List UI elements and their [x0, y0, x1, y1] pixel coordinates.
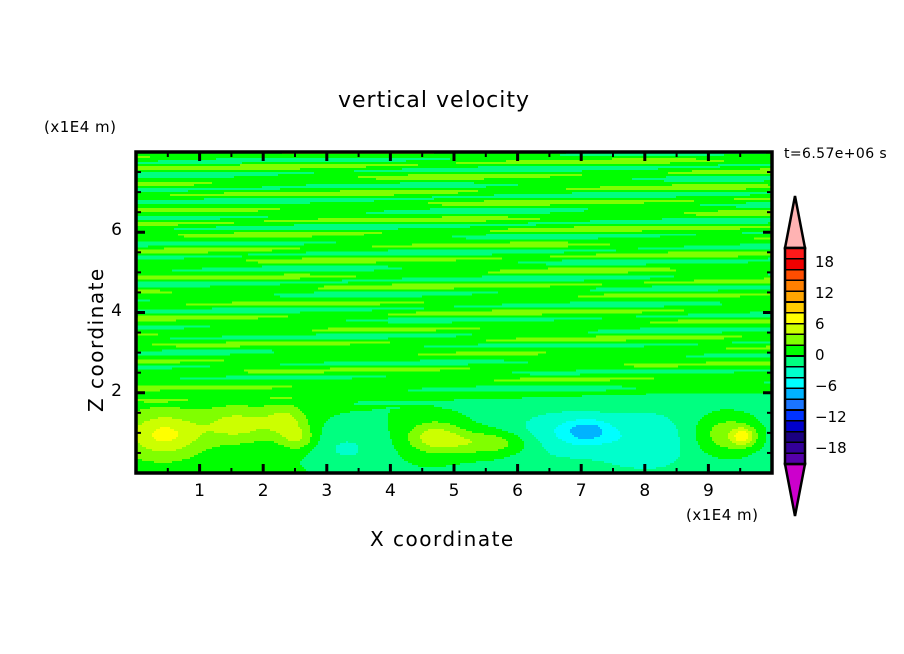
colorbar-tick-label: −6 [815, 377, 837, 395]
x-tick-label: 5 [434, 481, 474, 501]
colorbar-band [785, 270, 805, 281]
colorbar-band [785, 259, 805, 270]
colorbar-band [785, 453, 805, 464]
y-tick-label: 2 [90, 381, 122, 401]
colorbar-band [785, 410, 805, 421]
x-tick-label: 4 [370, 481, 410, 501]
colorbar-band [785, 442, 805, 453]
colorbar-tick-label: −18 [815, 439, 847, 457]
colorbar-band [785, 324, 805, 335]
colorbar-tick-label: 18 [815, 253, 834, 271]
x-tick-label: 1 [180, 481, 220, 501]
colorbar-band [785, 345, 805, 356]
x-tick-label: 3 [307, 481, 347, 501]
figure-canvas: vertical velocity (x1E4 m) (x1E4 m) t=6.… [0, 0, 904, 654]
x-tick-label: 6 [498, 481, 538, 501]
colorbar-band [785, 248, 805, 259]
colorbar-tick-label: 6 [815, 315, 825, 333]
x-tick-label: 9 [688, 481, 728, 501]
colorbar-tick-label: 0 [815, 346, 825, 364]
colorbar-band [785, 432, 805, 443]
y-tick-label: 4 [90, 301, 122, 321]
y-tick-label: 6 [90, 220, 122, 240]
colorbar-band [785, 302, 805, 313]
colorbar-band [785, 356, 805, 367]
colorbar-band [785, 313, 805, 324]
colorbar-band [785, 280, 805, 291]
colorbar [785, 196, 805, 516]
colorbar-band [785, 421, 805, 432]
colorbar-tick-label: 12 [815, 284, 834, 302]
colorbar-band [785, 399, 805, 410]
colorbar-band [785, 291, 805, 302]
colorbar-band [785, 378, 805, 389]
contour-plot [0, 0, 904, 654]
colorbar-band [785, 334, 805, 345]
x-tick-label: 2 [243, 481, 283, 501]
colorbar-band [785, 388, 805, 399]
x-tick-label: 7 [561, 481, 601, 501]
x-tick-label: 8 [625, 481, 665, 501]
field-raster [136, 152, 773, 474]
colorbar-tick-label: −12 [815, 408, 847, 426]
colorbar-band [785, 367, 805, 378]
